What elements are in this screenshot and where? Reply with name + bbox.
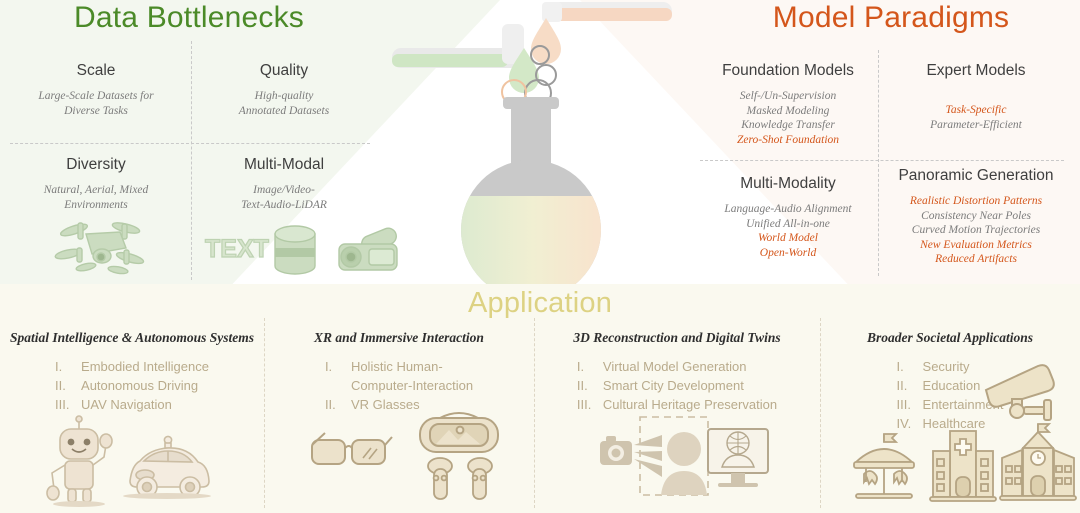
cell-title: Panoramic Generation: [884, 167, 1068, 185]
cell-line: Consistency Near Poles: [884, 209, 1068, 224]
cell-lines: Task-Specific Parameter-Efficient: [888, 89, 1064, 132]
cell-line: Unified All-in-one: [696, 217, 880, 232]
monitor-avatar-icon: [708, 429, 768, 487]
cell-line: Parameter-Efficient: [888, 118, 1064, 133]
list-item-label: UAV Navigation: [81, 395, 172, 414]
list-item: II. Smart City Development: [577, 376, 777, 395]
cell-quality: Quality High-quality Annotated Datasets: [198, 62, 370, 118]
list-item-number: II.: [577, 376, 603, 395]
list-item-label: Virtual Model Generation: [603, 357, 747, 376]
page-title-model-paradigms: Model Paradigms: [702, 1, 1080, 35]
list-item-number: I.: [325, 357, 351, 395]
top-band: Data Bottlenecks Model Paradigms Scale L…: [0, 0, 1080, 284]
cell-foundation-models: Foundation Models Self-/Un-Supervision M…: [700, 62, 876, 147]
cell-line: High-quality: [198, 89, 370, 104]
list-item-number: II.: [897, 376, 923, 395]
page-title-application: Application: [0, 287, 1080, 320]
svg-text:TEXT: TEXT: [205, 235, 269, 263]
orange-droplet-icon: [531, 18, 561, 64]
cell-lines: Natural, Aerial, Mixed Environments: [10, 183, 182, 212]
cell-multi-modality: Multi-Modality Language-Audio Alignment …: [696, 175, 880, 260]
hospital-icon: [930, 427, 996, 503]
cell-lines: Language-Audio Alignment Unified All-in-…: [696, 202, 880, 260]
cell-line-highlighted: Task-Specific: [888, 103, 1064, 118]
cell-line: Environments: [10, 198, 182, 213]
list-item-label: VR Glasses: [351, 395, 420, 414]
cell-scale: Scale Large-Scale Datasets for Diverse T…: [10, 62, 182, 118]
carousel-icon: [848, 432, 920, 502]
cell-line-highlighted: Realistic Distortion Patterns: [884, 194, 1068, 209]
cctv-camera-icon: [980, 360, 1066, 422]
list-item-number: IV.: [897, 414, 923, 433]
scan-rays: [634, 435, 662, 477]
cell-expert-models: Expert Models Task-Specific Parameter-Ef…: [888, 62, 1064, 132]
list-item-label: Smart City Development: [603, 376, 744, 395]
app-column-title: Broader Societal Applications: [820, 330, 1080, 346]
list-item-number: III.: [897, 395, 923, 414]
list-item-number: I.: [577, 357, 603, 376]
app-item-list: I. Embodied Intelligence II. Autonomous …: [55, 357, 209, 414]
cell-lines: Image/Video- Text-Audio-LiDAR: [198, 183, 370, 212]
list-item: II. Autonomous Driving: [55, 376, 209, 395]
school-icon: [1000, 424, 1076, 502]
green-pipette-icon: [392, 24, 524, 68]
left-vertical-divider: [191, 41, 192, 280]
orange-pipette-icon: [542, 2, 672, 22]
left-horizontal-divider: [10, 143, 370, 144]
list-item-label: Embodied Intelligence: [81, 357, 209, 376]
cell-line: Language-Audio Alignment: [696, 202, 880, 217]
drone-icon: [56, 214, 152, 276]
cell-line-highlighted: World Model: [696, 231, 880, 246]
list-item-number: II.: [325, 395, 351, 414]
list-item-number: I.: [897, 357, 923, 376]
cell-line: Text-Audio-LiDAR: [198, 198, 370, 213]
database-icon: [271, 224, 319, 276]
center-flask-illustration: [378, 0, 702, 284]
person-scan-icon: [661, 432, 707, 495]
cell-title: Multi-Modal: [198, 156, 370, 174]
list-item-number: II.: [55, 376, 81, 395]
cell-title: Scale: [10, 62, 182, 80]
cell-line: Knowledge Transfer: [700, 118, 876, 133]
cell-line-highlighted: Open-World: [696, 246, 880, 261]
vr-headset-icon: [416, 406, 502, 458]
text-label-icon: TEXT: [205, 233, 267, 263]
app-column-xr: XR and Immersive Interaction I. Holistic…: [264, 330, 534, 414]
list-item: III. UAV Navigation: [55, 395, 209, 414]
cell-title: Multi-Modality: [696, 175, 880, 193]
cell-line: Self-/Un-Supervision: [700, 89, 876, 104]
list-item-label: Holistic Human- Computer-Interaction: [351, 357, 473, 395]
list-item-number: III.: [55, 395, 81, 414]
cell-multi-modal: Multi-Modal Image/Video- Text-Audio-LiDA…: [198, 156, 370, 212]
cell-lines: High-quality Annotated Datasets: [198, 89, 370, 118]
list-item: I. Embodied Intelligence: [55, 357, 209, 376]
list-item: I. Virtual Model Generation: [577, 357, 777, 376]
cell-line: Curved Motion Trajectories: [884, 223, 1068, 238]
app-column-spatial-intelligence: Spatial Intelligence & Autonomous System…: [0, 330, 264, 414]
robot-icon: [44, 415, 114, 507]
list-item-label: Education: [923, 376, 981, 395]
page-title-data-bottlenecks: Data Bottlenecks: [0, 1, 378, 35]
app-column-title: 3D Reconstruction and Digital Twins: [534, 330, 820, 346]
app-column-title: Spatial Intelligence & Autonomous System…: [0, 330, 264, 346]
eyeglasses-icon: [307, 425, 393, 473]
cell-line: Annotated Datasets: [198, 104, 370, 119]
cell-line-highlighted: Reduced Artifacts: [884, 252, 1068, 267]
infographic-root: Data Bottlenecks Model Paradigms Scale L…: [0, 0, 1080, 513]
list-item-label: Autonomous Driving: [81, 376, 198, 395]
cell-line: Image/Video-: [198, 183, 370, 198]
cell-title: Diversity: [10, 156, 182, 174]
cell-lines: Large-Scale Datasets for Diverse Tasks: [10, 89, 182, 118]
cell-title: Quality: [198, 62, 370, 80]
camera-icon: [600, 436, 632, 465]
cell-line: Diverse Tasks: [10, 104, 182, 119]
app-column-3d-reconstruction: 3D Reconstruction and Digital Twins I. V…: [534, 330, 820, 414]
cell-line: Natural, Aerial, Mixed: [10, 183, 182, 198]
right-horizontal-divider: [700, 160, 1064, 161]
cell-panoramic-generation: Panoramic Generation Realistic Distortio…: [884, 167, 1068, 267]
vr-controllers-icon: [426, 456, 496, 504]
digital-twin-illustration: [598, 409, 778, 509]
cell-line-highlighted: Zero-Shot Foundation: [700, 133, 876, 148]
cell-lines: Realistic Distortion Patterns Consistenc…: [884, 194, 1068, 267]
app-item-list: I. Virtual Model Generation II. Smart Ci…: [577, 357, 777, 414]
cell-line: Masked Modeling: [700, 104, 876, 119]
list-item-number: I.: [55, 357, 81, 376]
app-column-title: XR and Immersive Interaction: [264, 330, 534, 346]
cell-lines: Self-/Un-Supervision Masked Modeling Kno…: [700, 89, 876, 147]
cell-line: Large-Scale Datasets for: [10, 89, 182, 104]
cell-diversity: Diversity Natural, Aerial, Mixed Environ…: [10, 156, 182, 212]
cell-title: Expert Models: [888, 62, 1064, 80]
cell-line-highlighted: New Evaluation Metrics: [884, 238, 1068, 253]
list-item: I. Holistic Human- Computer-Interaction: [325, 357, 473, 395]
flask-icon: [458, 97, 608, 284]
cell-title: Foundation Models: [700, 62, 876, 80]
camcorder-icon: [333, 220, 405, 276]
list-item-label: Security: [923, 357, 970, 376]
autonomous-car-icon: [112, 435, 212, 507]
